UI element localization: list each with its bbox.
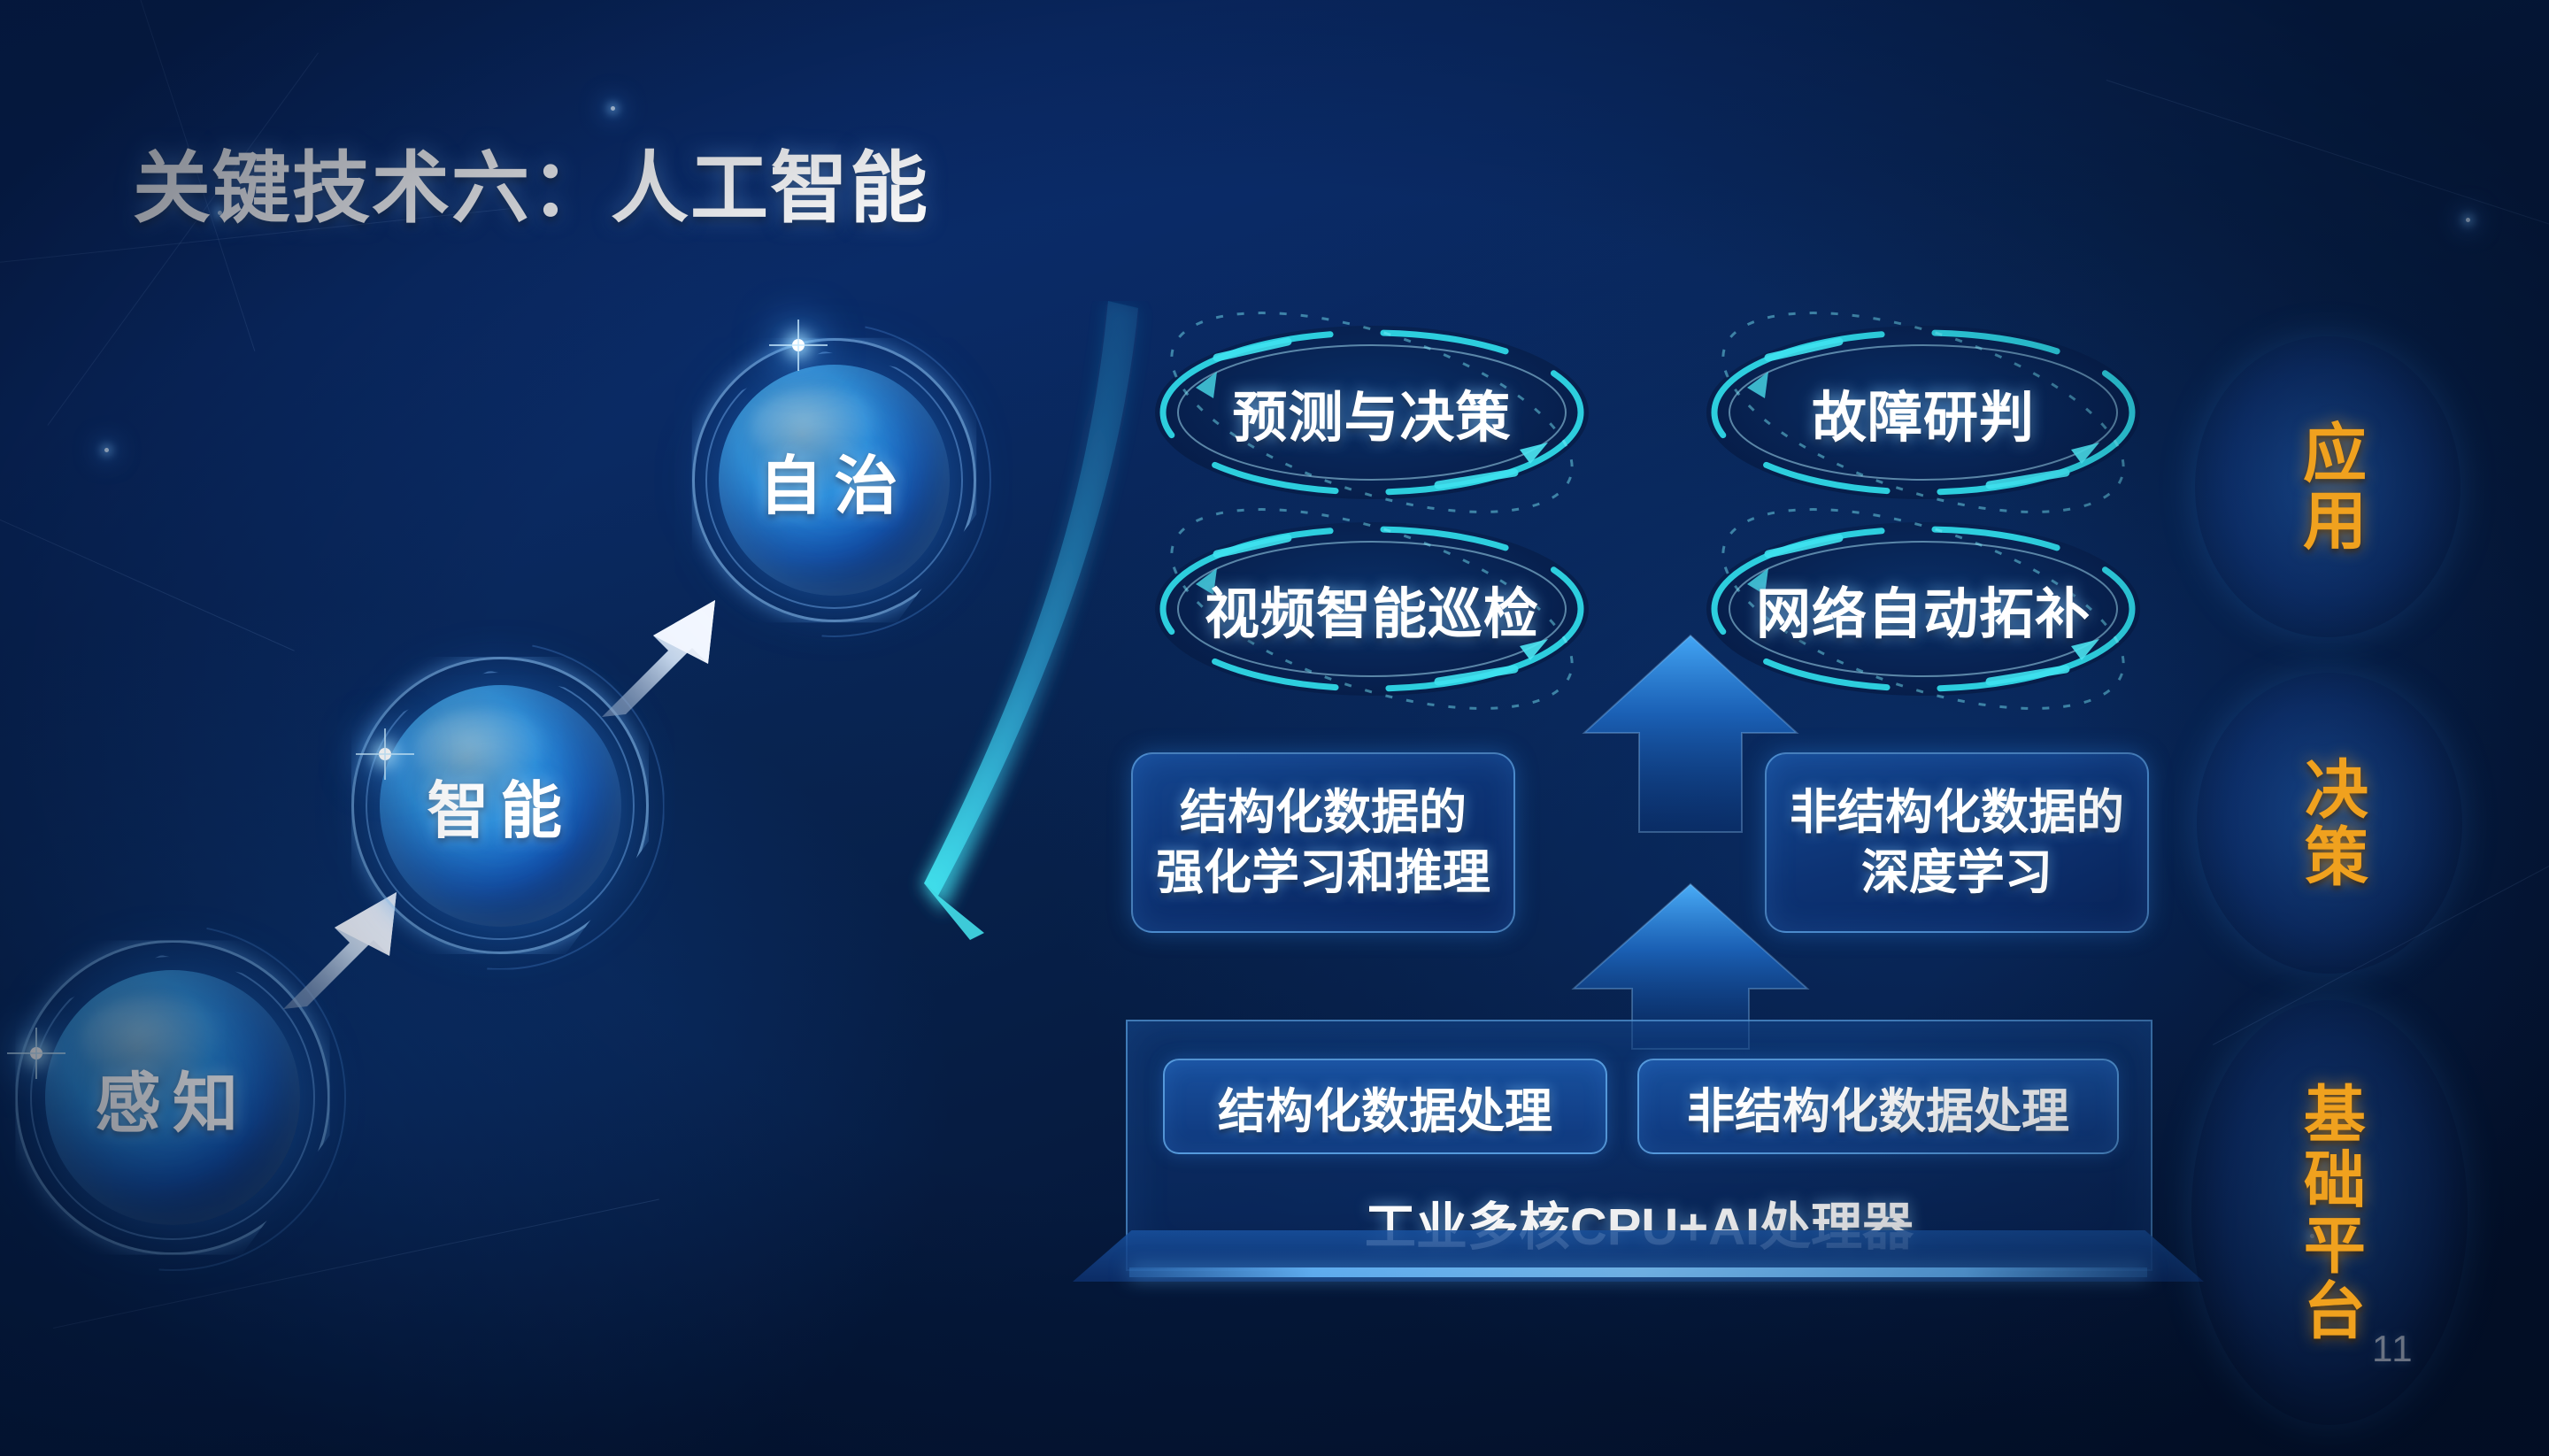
application-capsule-network-topology[interactable]: 网络自动拓补 xyxy=(1706,522,2140,696)
decision-box-line2: 强化学习和推理 xyxy=(1156,843,1490,903)
slide-canvas: 关键技术六：人工智能 感知 智能 xyxy=(0,0,2549,1456)
capsule-label: 网络自动拓补 xyxy=(1756,569,2091,649)
pill-label: 非结构化数据处理 xyxy=(1687,1072,2069,1142)
capsule-label: 故障研判 xyxy=(1812,373,2035,452)
layer-label-platform: 基础平台 xyxy=(2191,1000,2468,1425)
network-node xyxy=(2466,218,2470,222)
decision-box-line2: 深度学习 xyxy=(1861,843,2052,903)
layer-text: 应用 xyxy=(2295,420,2361,554)
network-node xyxy=(104,448,109,452)
capsule-label: 预测与决策 xyxy=(1232,373,1511,452)
decision-box-structured[interactable]: 结构化数据的 强化学习和推理 xyxy=(1131,752,1515,933)
network-line xyxy=(48,52,319,425)
stage-sphere-autonomy[interactable]: 自治 xyxy=(686,332,982,628)
platform-pill-unstructured[interactable]: 非结构化数据处理 xyxy=(1637,1059,2119,1154)
decision-box-unstructured[interactable]: 非结构化数据的 深度学习 xyxy=(1765,752,2149,933)
pill-label: 结构化数据处理 xyxy=(1218,1072,1552,1142)
layer-text: 决策 xyxy=(2297,756,2363,890)
page-title: 关键技术六：人工智能 xyxy=(133,126,929,238)
decision-box-line1: 结构化数据的 xyxy=(1180,782,1467,843)
platform-pill-structured[interactable]: 结构化数据处理 xyxy=(1163,1059,1607,1154)
layer-label-decision: 决策 xyxy=(2197,673,2462,974)
capsule-label: 视频智能巡检 xyxy=(1205,569,1539,649)
application-capsule-prediction[interactable]: 预测与决策 xyxy=(1155,326,1589,499)
network-line xyxy=(2106,80,2549,234)
application-capsule-fault-diagnosis[interactable]: 故障研判 xyxy=(1706,326,2140,499)
page-number: 11 xyxy=(2372,1328,2414,1370)
platform-base-bar xyxy=(1129,1267,2147,1277)
stage-label: 自治 xyxy=(686,332,982,628)
network-line xyxy=(0,496,295,651)
layer-label-application: 应用 xyxy=(2195,336,2460,637)
layer-text: 基础平台 xyxy=(2298,1082,2362,1344)
decision-box-line1: 非结构化数据的 xyxy=(1790,782,2124,843)
network-node xyxy=(611,106,615,111)
application-capsule-video-inspection[interactable]: 视频智能巡检 xyxy=(1155,522,1589,696)
